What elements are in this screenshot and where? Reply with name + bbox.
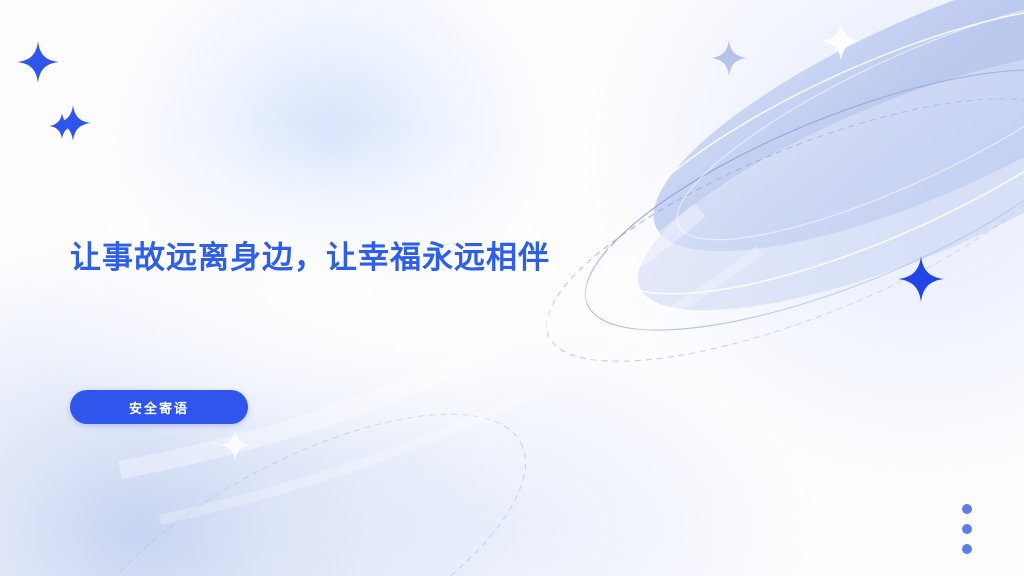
slide-content: 让事故远离身边，让幸福永远相伴 安全寄语 (70, 0, 770, 576)
slide-canvas: 让事故远离身边，让幸福永远相伴 安全寄语 (0, 0, 1024, 576)
pagination-dot-3[interactable] (962, 544, 972, 554)
pagination-dots[interactable] (962, 504, 972, 554)
page-title: 让事故远离身边，让幸福永远相伴 (70, 238, 550, 278)
sparkle-icon-ring-blue (897, 255, 945, 303)
pagination-dot-2[interactable] (962, 524, 972, 534)
sparkle-icon-ring-white (820, 20, 862, 62)
safety-message-button[interactable]: 安全寄语 (70, 390, 248, 424)
pagination-dot-1[interactable] (962, 504, 972, 514)
sparkle-icon-top-left-large (16, 40, 60, 84)
